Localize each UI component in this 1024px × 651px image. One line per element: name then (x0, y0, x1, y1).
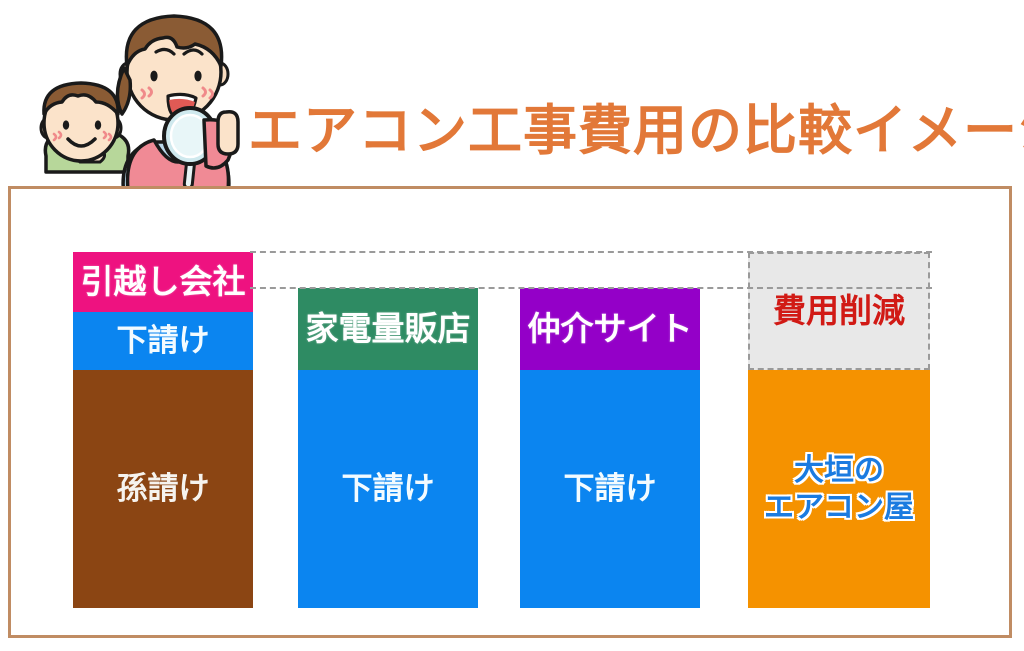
illustration-woman-with-magnifier-and-child (18, 8, 268, 198)
bar-segment-subcontractor: 下請け (520, 370, 700, 608)
bar-segment-header: 家電量販店 (298, 288, 478, 370)
guide-line-bottom (250, 287, 932, 289)
bar-segment-cost-saving: 費用削減 (748, 252, 930, 370)
bar-segment-header: 仲介サイト (520, 288, 700, 370)
guide-line-top (250, 251, 932, 253)
comparison-infographic: エアコン工事費用の比較イメージ 引越し会社 下請け 孫請け 家電量販店 下請け … (0, 0, 1024, 651)
bar-ogaki-aircon-ya: 費用削減 大垣の エアコン屋 (748, 252, 930, 608)
bar-segment-brand: 大垣の エアコン屋 (748, 370, 930, 608)
bar-segment-subcontractor: 下請け (73, 312, 253, 370)
bar-kaden-ryohanten: 家電量販店 下請け (298, 288, 478, 608)
page-title: エアコン工事費用の比較イメージ (248, 92, 1018, 158)
bar-segment-subcontractor: 下請け (298, 370, 478, 608)
bar-segment-header: 引越し会社 (73, 252, 253, 312)
bar-chukai-site: 仲介サイト 下請け (520, 288, 700, 608)
bar-segment-sub-subcontractor: 孫請け (73, 370, 253, 608)
bar-hikkoshi-gaisha: 引越し会社 下請け 孫請け (73, 252, 253, 608)
